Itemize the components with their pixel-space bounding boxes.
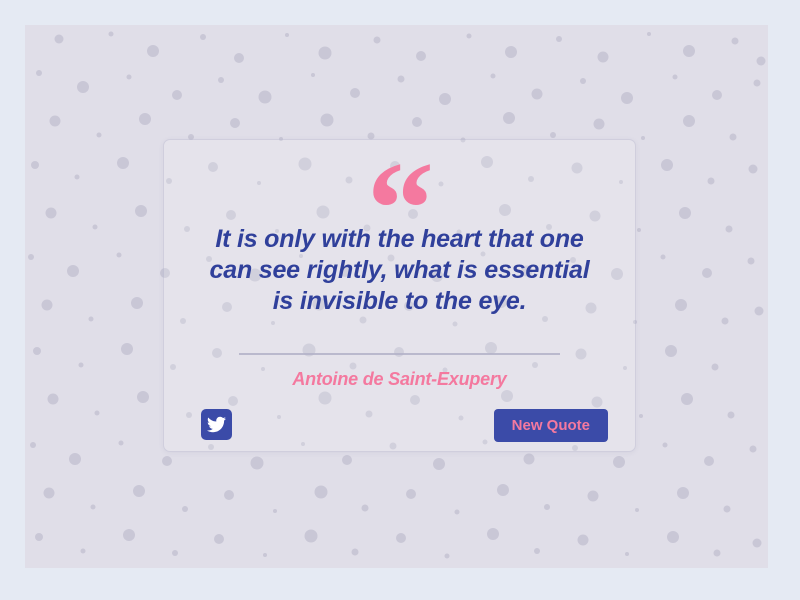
divider bbox=[239, 353, 560, 355]
quote-text: It is only with the heart that one can s… bbox=[202, 224, 597, 317]
app-root: “ It is only with the heart that one can… bbox=[0, 0, 800, 600]
quote-author: Antoine de Saint-Exupery bbox=[202, 369, 597, 390]
new-quote-button[interactable]: New Quote bbox=[494, 409, 608, 442]
twitter-bird-icon bbox=[207, 415, 226, 434]
quote-card: “ It is only with the heart that one can… bbox=[163, 139, 636, 452]
card-actions: New Quote bbox=[201, 409, 608, 443]
twitter-share-button[interactable] bbox=[201, 409, 232, 440]
quote-open-icon: “ bbox=[164, 142, 635, 226]
